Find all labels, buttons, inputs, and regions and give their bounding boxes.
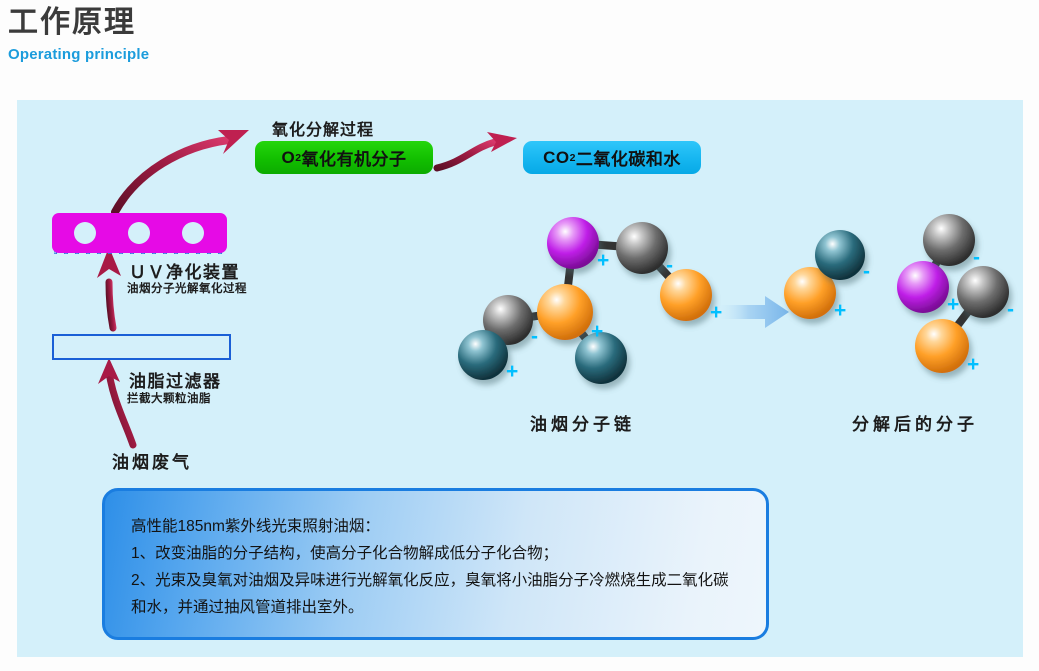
charge-label-positive: +	[597, 249, 609, 272]
byproduct-box[interactable]: CO2二氧化碳和水	[523, 141, 701, 174]
arrow-molecule-transition	[715, 296, 789, 328]
chain-atom-teal	[458, 330, 508, 380]
decomposed-molecule-label: 分解后的分子	[852, 410, 978, 435]
uv-device-sublabel: 油烟分子光解氧化过程	[127, 280, 247, 296]
charge-label-negative: -	[1007, 298, 1014, 321]
green-box-formula: O	[281, 148, 295, 168]
charge-label-positive: +	[834, 299, 846, 322]
charge-label-negative: -	[666, 254, 673, 277]
arrow-green-to-cyan	[437, 132, 517, 168]
molecule-decomposed-atoms	[784, 214, 1009, 373]
decomposed-atom-orange	[784, 267, 836, 319]
charge-label-negative: -	[973, 246, 980, 269]
oxidation-reaction-box[interactable]: O2氧化有机分子	[255, 141, 433, 174]
grease-filter-device[interactable]	[52, 334, 231, 360]
oxidation-process-caption: 氧化分解过程	[272, 116, 374, 140]
chain-atom-purple	[547, 217, 599, 269]
info-line-3: 2、光束及臭氧对油烟及异味进行光解氧化反应，臭氧将小油脂分子冷燃烧生成二氧化碳和…	[131, 567, 740, 621]
decomposed-atom-gray	[957, 266, 1009, 318]
uv-lamp-hole	[74, 222, 96, 244]
molecule-charge-labels: +-++-++-+--+	[506, 246, 1014, 383]
decomposed-atom-gray	[923, 214, 975, 266]
description-box: 高性能185nm紫外线光束照射油烟： 1、改变油脂的分子结构，使高分子化合物解成…	[102, 488, 769, 640]
chain-atom-teal	[575, 332, 627, 384]
exhaust-inlet-label: 油烟废气	[112, 448, 192, 473]
charge-label-negative: -	[531, 325, 538, 348]
molecule-chain-label: 油烟分子链	[530, 410, 635, 435]
charge-label-positive: +	[591, 320, 603, 343]
uv-lamp-hole	[128, 222, 150, 244]
chain-atom-gray	[616, 222, 668, 274]
charge-label-positive: +	[506, 360, 518, 383]
page-header: 工作原理 Operating principle	[8, 6, 149, 63]
cyan-box-formula: CO	[543, 148, 570, 168]
molecule-chain-bonds	[483, 243, 686, 358]
decomposed-atom-teal	[815, 230, 865, 280]
uv-purification-device[interactable]	[52, 213, 227, 253]
info-line-1: 高性能185nm紫外线光束照射油烟：	[131, 513, 740, 540]
info-line-2: 1、改变油脂的分子结构，使高分子化合物解成低分子化合物；	[131, 540, 740, 567]
decomposed-atom-orange	[915, 319, 969, 373]
green-box-text: 氧化有机分子	[302, 145, 407, 170]
molecule-chain-atoms	[458, 217, 712, 384]
page-subtitle: Operating principle	[8, 46, 149, 63]
uv-lamp-hole	[182, 222, 204, 244]
molecule-decomposed-bonds	[810, 240, 983, 346]
page-title: 工作原理	[8, 6, 149, 40]
arrow-uv-to-oxidation	[115, 130, 249, 212]
grease-filter-label: 油脂过滤器	[129, 367, 222, 392]
charge-label-positive: +	[967, 353, 979, 376]
chain-atom-orange	[660, 269, 712, 321]
diagram-panel: +-++-++-+--+ 氧化分解过程 O2氧化有机分子 CO2二氧化碳和水 Ｕ…	[17, 100, 1023, 657]
arrow-filter-to-uv	[97, 247, 121, 328]
grease-filter-sublabel: 拦截大颗粒油脂	[127, 390, 211, 406]
chain-atom-orange	[537, 284, 593, 340]
charge-label-positive: +	[947, 293, 959, 316]
decomposed-atom-purple	[897, 261, 949, 313]
cyan-box-text: 二氧化碳和水	[576, 145, 681, 170]
chain-atom-gray	[483, 295, 533, 345]
charge-label-negative: -	[863, 260, 870, 283]
charge-label-positive: +	[710, 301, 722, 324]
